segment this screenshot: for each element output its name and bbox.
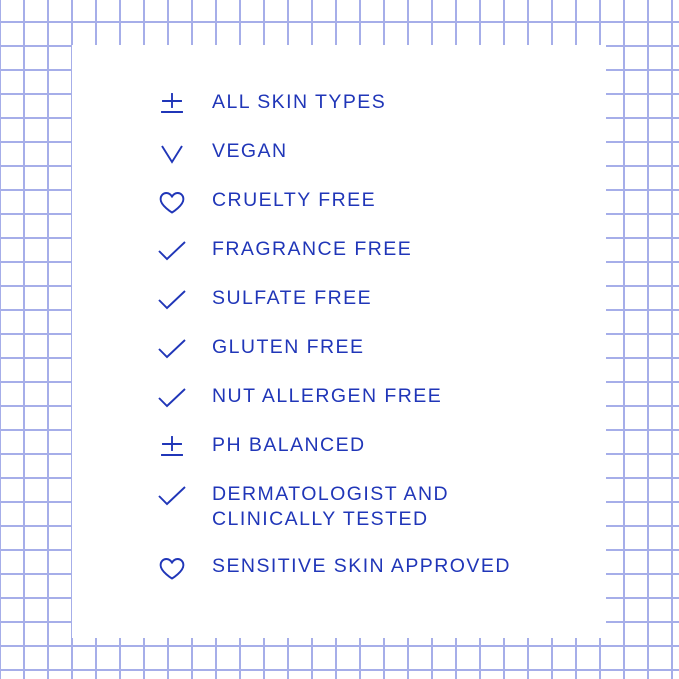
claim-row: SULFATE FREE [155, 279, 585, 328]
claim-label: CRUELTY FREE [212, 181, 585, 213]
check-icon [155, 284, 189, 318]
heart-icon [155, 186, 189, 220]
claim-label: SENSITIVE SKIN APPROVED [212, 547, 585, 579]
claim-row: NUT ALLERGEN FREE [155, 377, 585, 426]
check-icon [155, 480, 189, 514]
claim-label: VEGAN [212, 132, 585, 164]
product-claims-list: ALL SKIN TYPES VEGAN CRUELTY FREE FRAGRA… [155, 83, 585, 596]
screenshot-root: ALL SKIN TYPES VEGAN CRUELTY FREE FRAGRA… [0, 0, 679, 679]
claim-label: DERMATOLOGIST AND CLINICALLY TESTED [212, 475, 585, 532]
heart-icon [155, 552, 189, 586]
product-claims-card: ALL SKIN TYPES VEGAN CRUELTY FREE FRAGRA… [72, 45, 606, 638]
claim-row: FRAGRANCE FREE [155, 230, 585, 279]
check-icon [155, 333, 189, 367]
claim-label: SULFATE FREE [212, 279, 585, 311]
claim-row: SENSITIVE SKIN APPROVED [155, 547, 585, 596]
claim-label: PH BALANCED [212, 426, 585, 458]
plus-minus-icon [155, 431, 189, 465]
claim-row: VEGAN [155, 132, 585, 181]
check-icon [155, 382, 189, 416]
plus-minus-icon [155, 88, 189, 122]
claim-row: CRUELTY FREE [155, 181, 585, 230]
claim-row: PH BALANCED [155, 426, 585, 475]
claim-row: DERMATOLOGIST AND CLINICALLY TESTED [155, 475, 585, 547]
claim-label: NUT ALLERGEN FREE [212, 377, 585, 409]
check-icon [155, 235, 189, 269]
claim-label: ALL SKIN TYPES [212, 83, 585, 115]
claim-row: GLUTEN FREE [155, 328, 585, 377]
claim-label: GLUTEN FREE [212, 328, 585, 360]
vegan-v-icon [155, 137, 189, 171]
claim-label: FRAGRANCE FREE [212, 230, 585, 262]
claim-row: ALL SKIN TYPES [155, 83, 585, 132]
